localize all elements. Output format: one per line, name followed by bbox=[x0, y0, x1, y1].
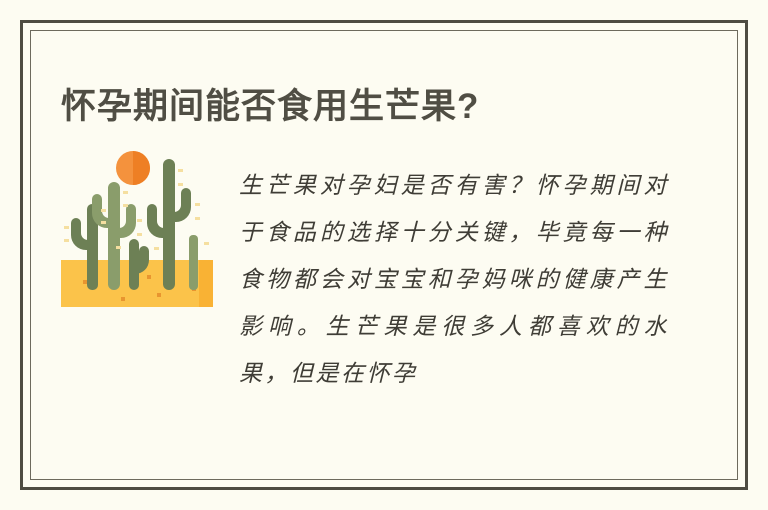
sand-ground-shadow bbox=[199, 260, 213, 307]
cactus-right-trunk bbox=[163, 159, 175, 290]
sun-icon-shade bbox=[133, 151, 150, 185]
page-title: 怀孕期间能否食用生芒果? bbox=[61, 88, 479, 127]
cactus-farright-trunk bbox=[189, 235, 198, 290]
article-card: 怀孕期间能否食用生芒果? bbox=[20, 20, 748, 490]
sand-pebble-icon bbox=[121, 297, 125, 301]
sand-pebble-icon bbox=[147, 275, 151, 279]
cactus-scene-svg bbox=[61, 147, 213, 307]
article-content-row: 生芒果对孕妇是否有害？怀孕期间对于食品的选择十分关键，毕竟每一种食物都会对宝宝和… bbox=[61, 135, 715, 398]
sand-pebble-icon bbox=[83, 280, 87, 284]
sand-pebble-icon bbox=[157, 293, 161, 297]
article-body-text: 生芒果对孕妇是否有害？怀孕期间对于食品的选择十分关键，毕竟每一种食物都会对宝宝和… bbox=[239, 163, 669, 398]
desert-cactus-illustration bbox=[61, 147, 213, 307]
